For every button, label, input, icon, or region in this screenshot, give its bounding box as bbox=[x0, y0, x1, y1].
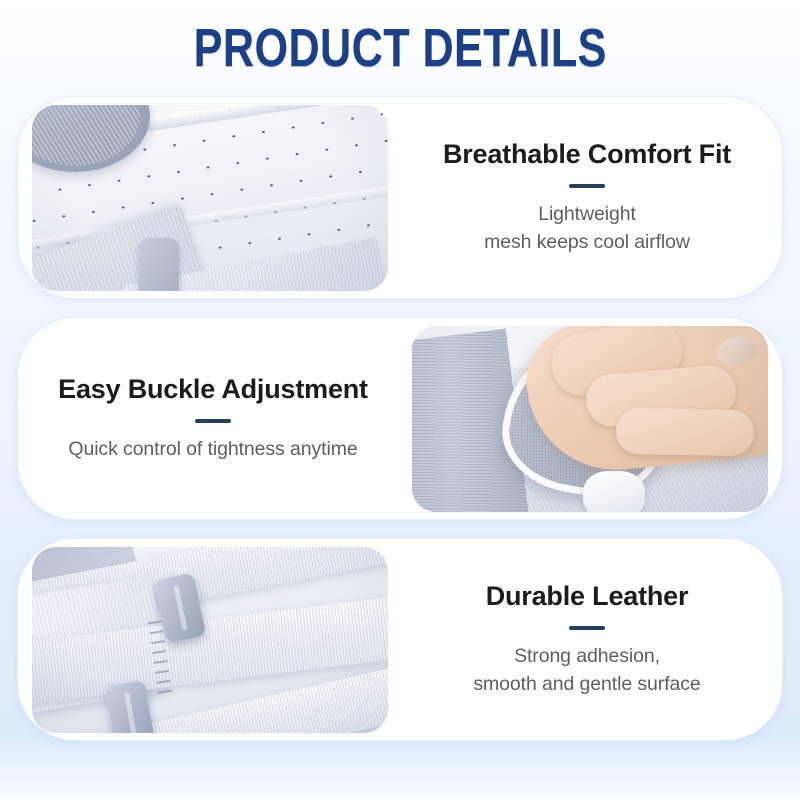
feature-text-block: Easy Buckle Adjustment Quick control of … bbox=[18, 374, 408, 464]
feature-description: Lightweight mesh keeps cool airflow bbox=[484, 201, 690, 256]
feature-text-block: Durable Leather Strong adhesion, smooth … bbox=[392, 581, 782, 698]
feature-description: Quick control of tightness anytime bbox=[68, 436, 357, 464]
hand-peeling-velcro-strap-photo bbox=[412, 326, 768, 512]
white-clip-shape bbox=[583, 471, 645, 512]
perforated-mesh-fabric-photo bbox=[32, 105, 388, 291]
feature-card-easy-buckle-adjustment: Easy Buckle Adjustment Quick control of … bbox=[17, 317, 783, 520]
title-divider bbox=[569, 184, 605, 188]
feature-title: Breathable Comfort Fit bbox=[443, 139, 731, 170]
feature-description: Strong adhesion, smooth and gentle surfa… bbox=[473, 643, 700, 698]
mesh-buckle-shape bbox=[139, 238, 179, 291]
title-divider bbox=[195, 419, 231, 423]
feature-card-durable-leather: Durable Leather Strong adhesion, smooth … bbox=[17, 538, 783, 741]
feature-card-breathable-comfort-fit: Breathable Comfort Fit Lightweight mesh … bbox=[17, 96, 783, 299]
elastic-straps-buckles-photo bbox=[32, 547, 388, 733]
page-header: PRODUCT DETAILS bbox=[0, 0, 800, 96]
feature-title: Easy Buckle Adjustment bbox=[58, 374, 368, 405]
page-title: PRODUCT DETAILS bbox=[193, 17, 606, 79]
feature-card-list: Breathable Comfort Fit Lightweight mesh … bbox=[0, 96, 800, 741]
feature-title: Durable Leather bbox=[486, 581, 689, 612]
finger-shape-3 bbox=[615, 408, 754, 456]
title-divider bbox=[569, 626, 605, 630]
feature-text-block: Breathable Comfort Fit Lightweight mesh … bbox=[392, 139, 782, 256]
